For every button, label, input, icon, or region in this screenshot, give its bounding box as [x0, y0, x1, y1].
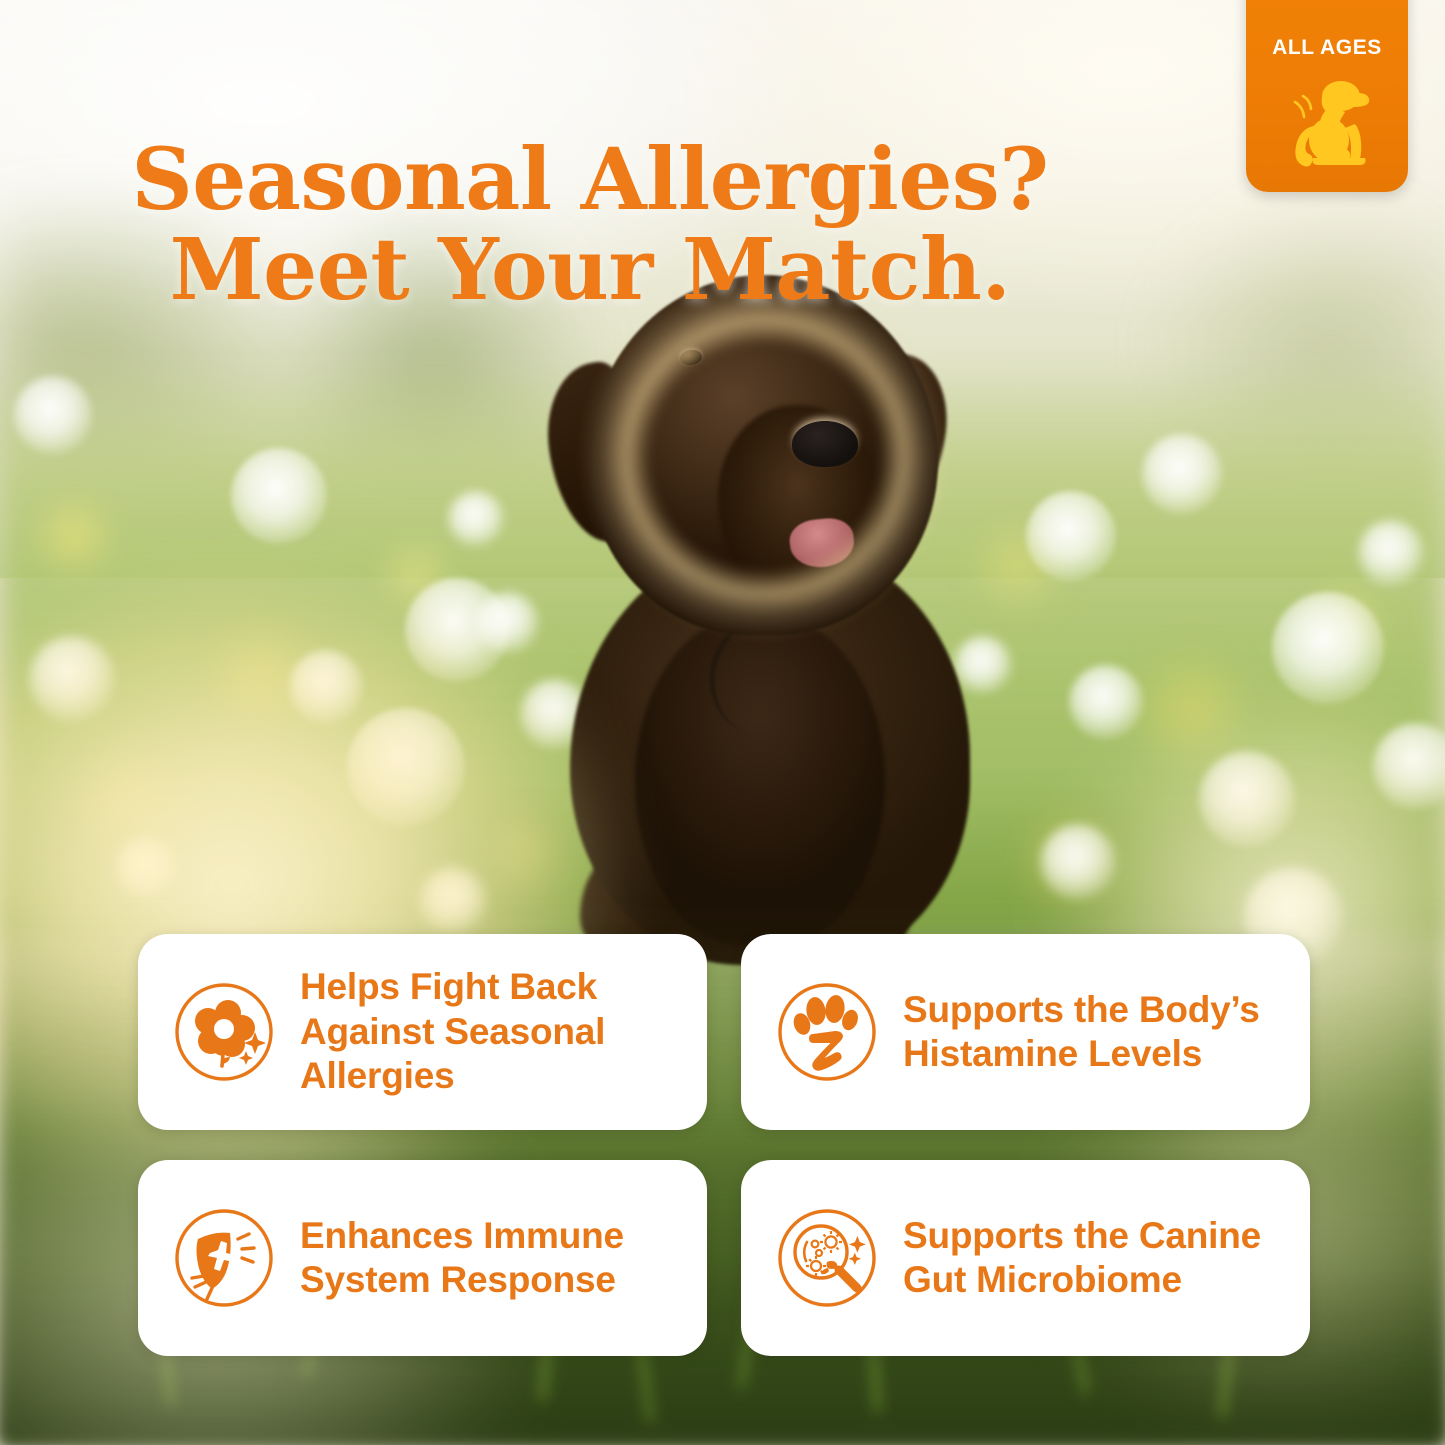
feature-card-immune[interactable]: Enhances Immune System Response [138, 1160, 707, 1356]
page-headline: Seasonal Allergies? Meet Your Match. [0, 135, 1180, 315]
promo-graphic: Seasonal Allergies? Meet Your Match. ALL… [0, 0, 1445, 1445]
flower-sparkle-icon [172, 980, 276, 1084]
feature-card-label: Helps Fight Back Against Seasonal Allerg… [300, 965, 681, 1098]
feature-card-label: Supports the Canine Gut Microbiome [903, 1214, 1284, 1303]
feature-card-allergies[interactable]: Helps Fight Back Against Seasonal Allerg… [138, 934, 707, 1130]
headline-line-1: Seasonal Allergies? [131, 130, 1048, 230]
dog-nose [792, 421, 858, 467]
paw-print-z-icon [775, 980, 879, 1084]
feature-cards: Helps Fight Back Against Seasonal Allerg… [138, 934, 1310, 1356]
feature-card-microbiome[interactable]: Supports the Canine Gut Microbiome [741, 1160, 1310, 1356]
shield-plus-icon [172, 1206, 276, 1310]
feature-card-label: Enhances Immune System Response [300, 1214, 681, 1303]
all-ages-badge: ALL AGES [1246, 0, 1408, 192]
all-ages-label: ALL AGES [1272, 36, 1382, 60]
magnifier-microbes-icon [775, 1206, 879, 1310]
sitting-dog-silhouette-icon [1273, 66, 1381, 179]
headline-line-2: Meet Your Match. [0, 225, 1180, 315]
feature-card-label: Supports the Body’s Histamine Levels [903, 988, 1284, 1077]
feature-card-histamine[interactable]: Supports the Body’s Histamine Levels [741, 934, 1310, 1130]
